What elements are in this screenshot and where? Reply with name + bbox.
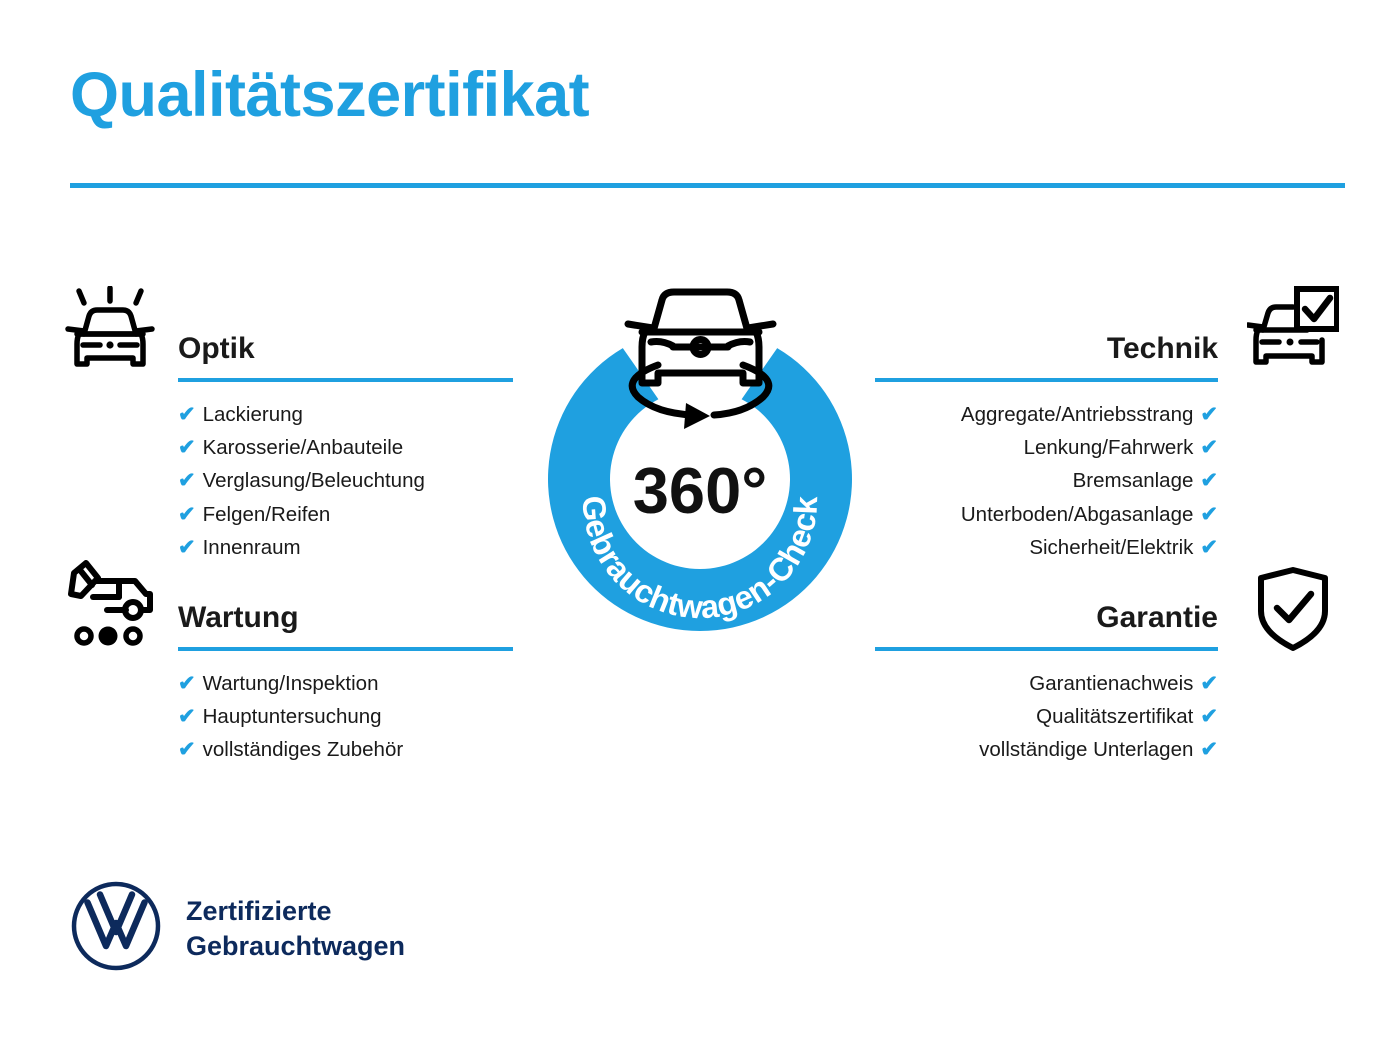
check-icon: ✔ [1200,436,1218,459]
section-technik-header: Technik [875,328,1218,382]
section-wartung: Wartung ✔Wartung/Inspektion ✔Hauptunters… [178,597,513,767]
vw-logo-icon [70,880,162,977]
check-icon: ✔ [1200,403,1218,426]
list-item: Sicherheit/Elektrik✔ [875,531,1218,564]
vw-logo-text: Zertifizierte Gebrauchtwagen [186,894,405,964]
check-icon: ✔ [1200,705,1218,728]
list-item: Bremsanlage✔ [875,464,1218,497]
car-checkbox-icon [1247,286,1339,381]
list-item-label: Unterboden/Abgasanlage [961,503,1194,526]
list-item: ✔Hauptuntersuchung [178,700,513,733]
list-item: ✔Lackierung [178,398,513,431]
car-shine-icon [62,286,158,383]
list-item-label: Hauptuntersuchung [203,705,382,728]
check-icon: ✔ [1200,536,1218,559]
list-item: Lenkung/Fahrwerk✔ [875,431,1218,464]
section-optik-title: Optik [178,328,513,370]
list-item: ✔Karosserie/Anbauteile [178,431,513,464]
list-item-label: Wartung/Inspektion [203,672,379,695]
check-icon: ✔ [1200,503,1218,526]
check-icon: ✔ [1200,738,1218,761]
list-item-label: Innenraum [203,536,301,559]
check-icon: ✔ [178,469,196,492]
vw-logo-text-line1: Zertifizierte [186,896,332,926]
section-garantie-title: Garantie [875,597,1218,639]
list-item-label: vollständiges Zubehör [203,738,404,761]
list-item-label: Verglasung/Beleuchtung [203,469,425,492]
check-icon: ✔ [178,672,196,695]
section-garantie: Garantie Garantienachweis✔ Qualitätszert… [875,597,1218,767]
list-item-label: vollständige Unterlagen [979,738,1193,761]
vw-certified-logo-lockup: Zertifizierte Gebrauchtwagen [70,880,405,977]
title-divider [70,183,1345,188]
list-item-label: Qualitätszertifikat [1036,705,1193,728]
list-item: ✔Felgen/Reifen [178,498,513,531]
section-optik-list: ✔Lackierung ✔Karosserie/Anbauteile ✔Verg… [178,398,513,564]
vw-logo-text-line2: Gebrauchtwagen [186,931,405,961]
section-optik-divider [178,378,513,382]
car-rotate-icon [628,292,773,429]
list-item: Aggregate/Antriebsstrang✔ [875,398,1218,431]
list-item-label: Felgen/Reifen [203,503,331,526]
list-item: Qualitätszertifikat✔ [875,700,1218,733]
list-item-label: Aggregate/Antriebsstrang [961,403,1193,426]
check-icon: ✔ [178,503,196,526]
section-garantie-list: Garantienachweis✔ Qualitätszertifikat✔ v… [875,667,1218,767]
check-icon: ✔ [178,705,196,728]
section-optik-header: Optik [178,328,513,382]
section-wartung-title: Wartung [178,597,513,639]
list-item: ✔Wartung/Inspektion [178,667,513,700]
list-item: ✔Innenraum [178,531,513,564]
section-technik-divider [875,378,1218,382]
list-item: Garantienachweis✔ [875,667,1218,700]
list-item: ✔vollständiges Zubehör [178,733,513,766]
check-icon: ✔ [178,536,196,559]
list-item-label: Lackierung [203,403,303,426]
check-icon: ✔ [178,403,196,426]
list-item: ✔Verglasung/Beleuchtung [178,464,513,497]
section-garantie-divider [875,647,1218,651]
section-technik-list: Aggregate/Antriebsstrang✔ Lenkung/Fahrwe… [875,398,1218,564]
check-icon: ✔ [1200,672,1218,695]
badge-center-number: 360° [505,458,895,523]
list-item-label: Garantienachweis [1029,672,1193,695]
list-item-label: Karosserie/Anbauteile [203,436,404,459]
section-technik: Technik Aggregate/Antriebsstrang✔ Lenkun… [875,328,1218,564]
section-wartung-list: ✔Wartung/Inspektion ✔Hauptuntersuchung ✔… [178,667,513,767]
list-item-label: Sicherheit/Elektrik [1029,536,1193,559]
page-title: Qualitätszertifikat [70,62,589,128]
section-technik-title: Technik [875,328,1218,370]
section-wartung-divider [178,647,513,651]
shield-check-icon [1253,566,1333,657]
check-icon: ✔ [178,436,196,459]
check-icon: ✔ [1200,469,1218,492]
badge-360-check: Gebrauchtwagen-Check [505,276,895,666]
section-garantie-header: Garantie [875,597,1218,651]
section-optik: Optik ✔Lackierung ✔Karosserie/Anbauteile… [178,328,513,564]
list-item: vollständige Unterlagen✔ [875,733,1218,766]
list-item: Unterboden/Abgasanlage✔ [875,498,1218,531]
certificate-page: Qualitätszertifikat [0,0,1400,1050]
car-service-pencil-icon [62,558,162,661]
section-wartung-header: Wartung [178,597,513,651]
list-item-label: Bremsanlage [1073,469,1194,492]
check-icon: ✔ [178,738,196,761]
list-item-label: Lenkung/Fahrwerk [1024,436,1194,459]
